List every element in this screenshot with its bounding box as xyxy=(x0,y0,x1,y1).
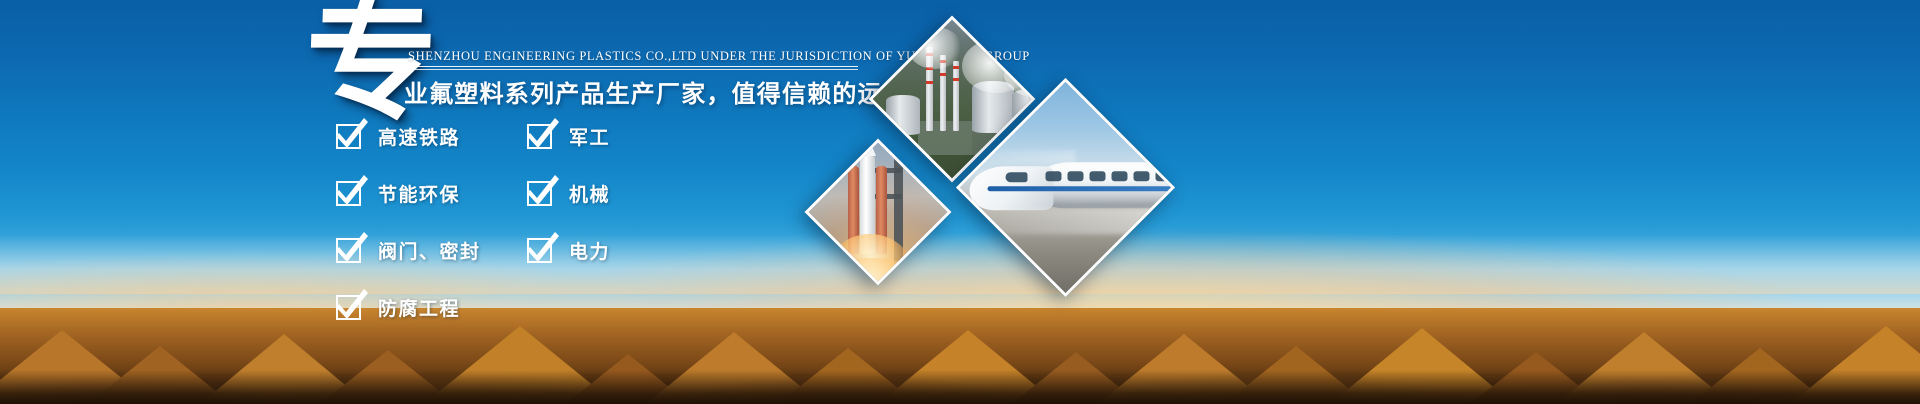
checklist-item[interactable]: 机械 xyxy=(527,175,707,211)
rocket-nose-cone xyxy=(858,138,876,156)
checklist-item-label: 防腐工程 xyxy=(378,294,460,321)
checklist-item[interactable]: 军工 xyxy=(527,118,707,154)
check-mark-icon xyxy=(526,174,560,206)
divider-line-top xyxy=(408,66,858,67)
exhaust-plume xyxy=(810,258,930,286)
steam-plume xyxy=(908,27,962,69)
check-mark-icon xyxy=(526,117,560,149)
train-stripe xyxy=(988,186,1176,191)
check-mark-icon xyxy=(335,288,369,320)
checkbox-checked-icon xyxy=(336,295,361,320)
steam-plume xyxy=(962,39,1032,93)
checklist-column-right: 军工 机械 电力 xyxy=(527,118,707,289)
checklist-item[interactable]: 防腐工程 xyxy=(336,289,666,325)
train-window xyxy=(1068,171,1084,181)
check-mark-icon xyxy=(335,231,369,263)
divider-rules xyxy=(408,66,858,70)
smokestack xyxy=(953,61,959,131)
train-window xyxy=(1112,171,1128,181)
train-window xyxy=(1006,172,1028,182)
checkbox-checked-icon xyxy=(336,124,361,149)
checklist-item-label: 高速铁路 xyxy=(378,123,460,150)
checkbox-checked-icon xyxy=(527,181,552,206)
checkbox-checked-icon xyxy=(527,238,552,263)
train-window xyxy=(1090,171,1106,181)
checklist-item-label: 电力 xyxy=(569,237,610,264)
checkbox-checked-icon xyxy=(336,238,361,263)
motion-blur xyxy=(956,208,1175,234)
checkbox-checked-icon xyxy=(336,181,361,206)
train-window xyxy=(1134,171,1150,181)
checklist-item[interactable]: 电力 xyxy=(527,232,707,268)
check-mark-icon xyxy=(335,117,369,149)
checklist-item-label: 机械 xyxy=(569,180,610,207)
check-mark-icon xyxy=(526,231,560,263)
checklist-item-label: 节能环保 xyxy=(378,180,460,207)
banner-content: 专 SHENZHOU ENGINEERING PLASTICS CO.,LTD … xyxy=(0,0,1920,404)
train-window xyxy=(1156,171,1172,181)
checklist-item-label: 阀门、密封 xyxy=(378,237,481,264)
cooling-tower xyxy=(886,95,920,135)
train-window xyxy=(1046,171,1062,181)
checklist-item-label: 军工 xyxy=(569,123,610,150)
check-mark-icon xyxy=(335,174,369,206)
promo-banner: 专 SHENZHOU ENGINEERING PLASTICS CO.,LTD … xyxy=(0,0,1920,404)
checkbox-checked-icon xyxy=(527,124,552,149)
divider-line-bottom xyxy=(408,69,858,70)
